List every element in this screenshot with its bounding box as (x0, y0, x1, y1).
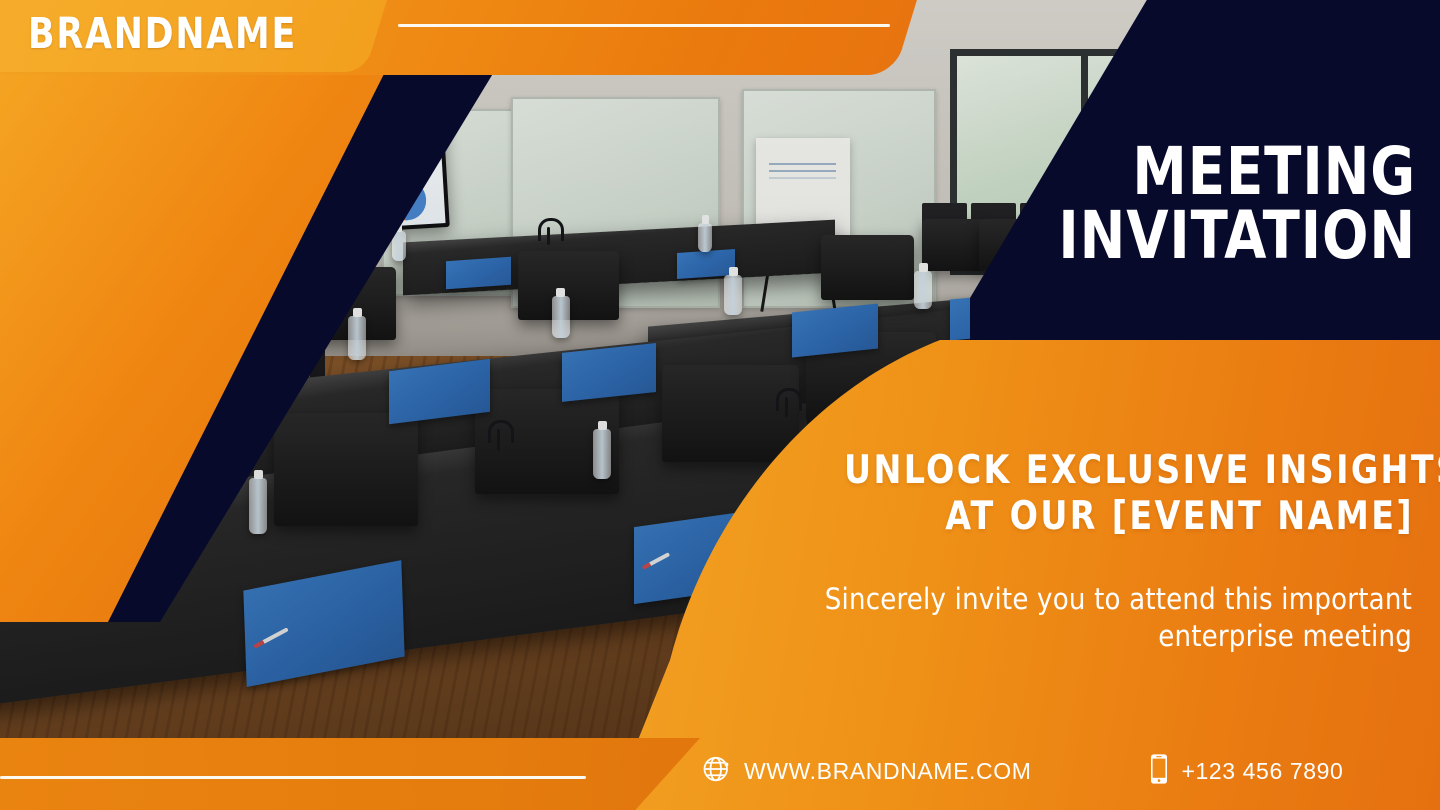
footer-band (0, 738, 730, 810)
footer-contacts: WWW.BRANDNAME.COM +123 456 7890 (680, 732, 1440, 810)
phone-icon (1149, 753, 1169, 790)
footer-divider-line (0, 776, 586, 779)
header-divider-line (398, 24, 890, 27)
globe-icon (702, 754, 732, 789)
phone-label: +123 456 7890 (1181, 758, 1343, 785)
website-contact[interactable]: WWW.BRANDNAME.COM (702, 754, 1031, 789)
page-title-line-2: INVITATION (1030, 204, 1416, 268)
subtitle: Sincerely invite you to attend this impo… (792, 581, 1412, 655)
page-title-line-1: MEETING (1030, 140, 1416, 204)
headline: UNLOCK EXCLUSIVE INSIGHTS AT OUR [EVENT … (844, 448, 1414, 540)
headline-line-1: UNLOCK EXCLUSIVE INSIGHTS (844, 448, 1414, 494)
website-label: WWW.BRANDNAME.COM (744, 758, 1031, 785)
meeting-invitation-poster: BRANDNAME MEETING INVITATION UNLOCK EXCL… (0, 0, 1440, 810)
phone-contact[interactable]: +123 456 7890 (1149, 753, 1343, 790)
subtitle-line-1: Sincerely invite you to attend this impo… (792, 581, 1412, 618)
subtitle-line-2: enterprise meeting (792, 618, 1412, 655)
page-title: MEETING INVITATION (1030, 140, 1416, 268)
headline-line-2: AT OUR [EVENT NAME] (844, 494, 1414, 540)
brand-name: BRANDNAME (28, 9, 297, 59)
